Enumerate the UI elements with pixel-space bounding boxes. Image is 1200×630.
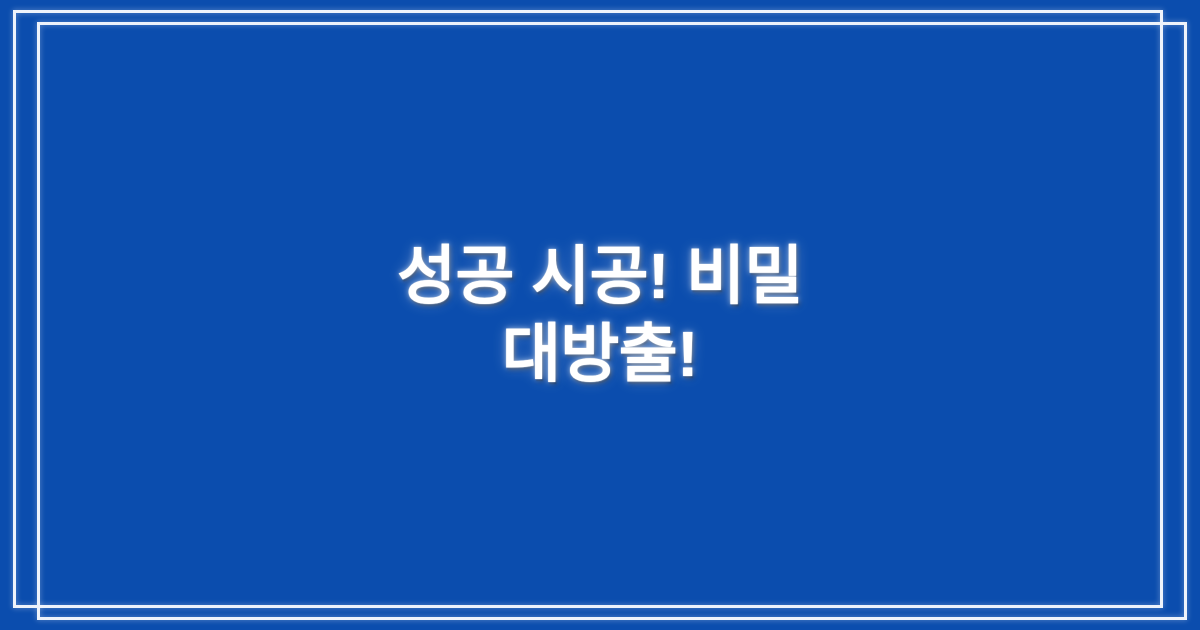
promo-banner: 성공 시공! 비밀 대방출! [0, 0, 1200, 630]
banner-headline: 성공 시공! 비밀 대방출! [0, 237, 1200, 393]
headline-container: 성공 시공! 비밀 대방출! [0, 0, 1200, 630]
